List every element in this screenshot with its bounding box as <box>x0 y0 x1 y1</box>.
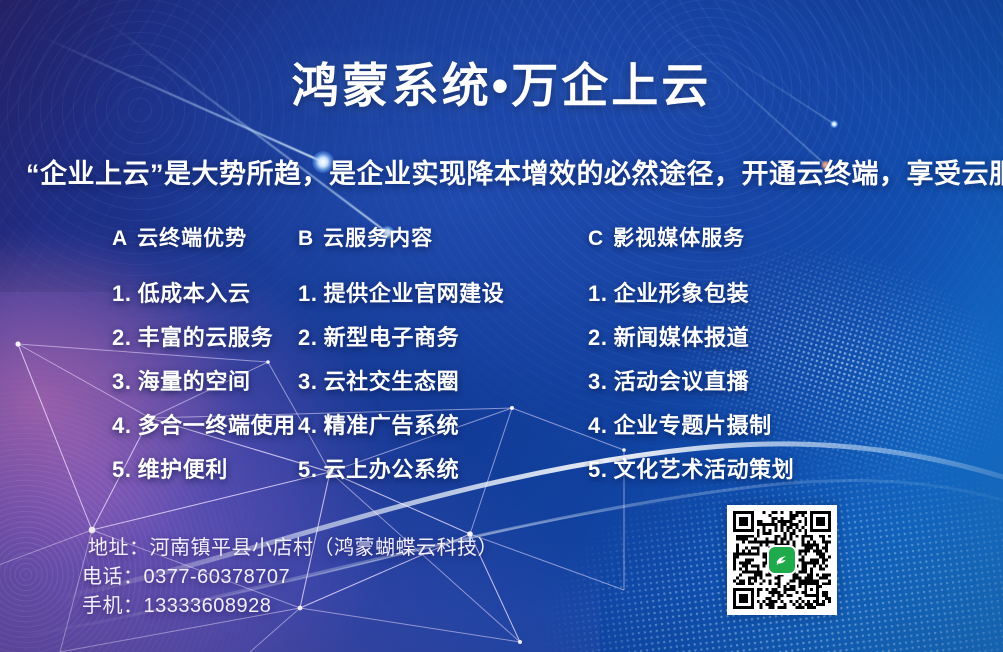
item-label: 维护便利 <box>138 457 228 482</box>
contact-address: 地址：河南镇平县小店村（鸿蒙蝴蝶云科技） <box>82 534 498 563</box>
list-item: 3.海量的空间 <box>112 360 290 404</box>
item-number: 4. <box>112 413 132 438</box>
list-item: 2.丰富的云服务 <box>112 316 290 360</box>
service-column-c: C影视媒体服务 1.企业形象包装 2.新闻媒体报道 3.活动会议直播 4.企业专… <box>588 222 1003 492</box>
column-c-list: 1.企业形象包装 2.新闻媒体报道 3.活动会议直播 4.企业专题片摄制 5.文… <box>588 272 1003 492</box>
column-c-heading: C影视媒体服务 <box>588 222 1003 252</box>
list-item: 4.多合一终端使用 <box>112 404 290 448</box>
item-label: 企业专题片摄制 <box>614 413 772 438</box>
item-number: 1. <box>112 281 132 306</box>
list-item: 1.提供企业官网建设 <box>298 272 588 316</box>
contact-block: 地址：河南镇平县小店村（鸿蒙蝴蝶云科技） 电话：0377-60378707 手机… <box>82 534 498 621</box>
column-b-heading: B云服务内容 <box>298 222 588 252</box>
item-label: 新型电子商务 <box>324 325 460 350</box>
item-number: 2. <box>112 325 132 350</box>
item-number: 5. <box>112 457 132 482</box>
item-number: 2. <box>588 325 608 350</box>
item-number: 3. <box>298 369 318 394</box>
item-label: 活动会议直播 <box>614 369 750 394</box>
list-item: 2.新型电子商务 <box>298 316 588 360</box>
list-item: 5.文化艺术活动策划 <box>588 448 1003 492</box>
column-c-title: 影视媒体服务 <box>613 227 745 250</box>
column-b-list: 1.提供企业官网建设 2.新型电子商务 3.云社交生态圈 4.精准广告系统 5.… <box>298 272 588 492</box>
item-number: 2. <box>298 325 318 350</box>
service-column-a: A云终端优势 1.低成本入云 2.丰富的云服务 3.海量的空间 4.多合一终端使… <box>0 222 290 492</box>
list-item: 3.云社交生态圈 <box>298 360 588 404</box>
list-item: 3.活动会议直播 <box>588 360 1003 404</box>
qr-code[interactable] <box>727 505 837 615</box>
list-item: 4.精准广告系统 <box>298 404 588 448</box>
service-column-b: B云服务内容 1.提供企业官网建设 2.新型电子商务 3.云社交生态圈 4.精准… <box>290 222 588 492</box>
item-number: 5. <box>588 457 608 482</box>
column-a-list: 1.低成本入云 2.丰富的云服务 3.海量的空间 4.多合一终端使用 5.维护便… <box>112 272 290 492</box>
item-label: 丰富的云服务 <box>138 325 274 350</box>
item-label: 多合一终端使用 <box>138 413 296 438</box>
item-label: 文化艺术活动策划 <box>614 457 795 482</box>
list-item: 5.云上办公系统 <box>298 448 588 492</box>
poster-subtitle: “企业上云”是大势所趋，是企业实现降本增效的必然途径，开通云终端，享受云服务 <box>26 152 983 191</box>
service-columns: A云终端优势 1.低成本入云 2.丰富的云服务 3.海量的空间 4.多合一终端使… <box>0 222 1003 492</box>
column-c-letter: C <box>588 227 604 250</box>
poster-title: 鸿蒙系统•万企上云 <box>0 60 1003 112</box>
item-label: 企业形象包装 <box>614 281 750 306</box>
contact-phone: 电话：0377-60378707 <box>82 563 498 592</box>
list-item: 2.新闻媒体报道 <box>588 316 1003 360</box>
item-number: 4. <box>588 413 608 438</box>
item-label: 提供企业官网建设 <box>324 281 505 306</box>
poster-content: 鸿蒙系统•万企上云 “企业上云”是大势所趋，是企业实现降本增效的必然途径，开通云… <box>0 0 1003 652</box>
contact-mobile: 手机：13333608928 <box>82 592 498 621</box>
item-number: 1. <box>588 281 608 306</box>
wechat-leaf-icon <box>769 547 795 573</box>
list-item: 1.企业形象包装 <box>588 272 1003 316</box>
item-number: 1. <box>298 281 318 306</box>
list-item: 4.企业专题片摄制 <box>588 404 1003 448</box>
item-label: 云上办公系统 <box>324 457 460 482</box>
column-a-heading: A云终端优势 <box>112 222 290 252</box>
item-label: 海量的空间 <box>138 369 251 394</box>
list-item: 5.维护便利 <box>112 448 290 492</box>
item-label: 云社交生态圈 <box>324 369 460 394</box>
qr-code-matrix <box>733 511 831 609</box>
item-number: 4. <box>298 413 318 438</box>
item-number: 3. <box>112 369 132 394</box>
item-label: 新闻媒体报道 <box>614 325 750 350</box>
item-number: 5. <box>298 457 318 482</box>
item-label: 低成本入云 <box>138 281 251 306</box>
column-a-letter: A <box>112 227 128 250</box>
column-b-title: 云服务内容 <box>323 227 433 250</box>
poster-canvas: 鸿蒙系统•万企上云 “企业上云”是大势所趋，是企业实现降本增效的必然途径，开通云… <box>0 0 1003 652</box>
list-item: 1.低成本入云 <box>112 272 290 316</box>
column-a-title: 云终端优势 <box>137 227 247 250</box>
column-b-letter: B <box>298 227 314 250</box>
item-label: 精准广告系统 <box>324 413 460 438</box>
item-number: 3. <box>588 369 608 394</box>
